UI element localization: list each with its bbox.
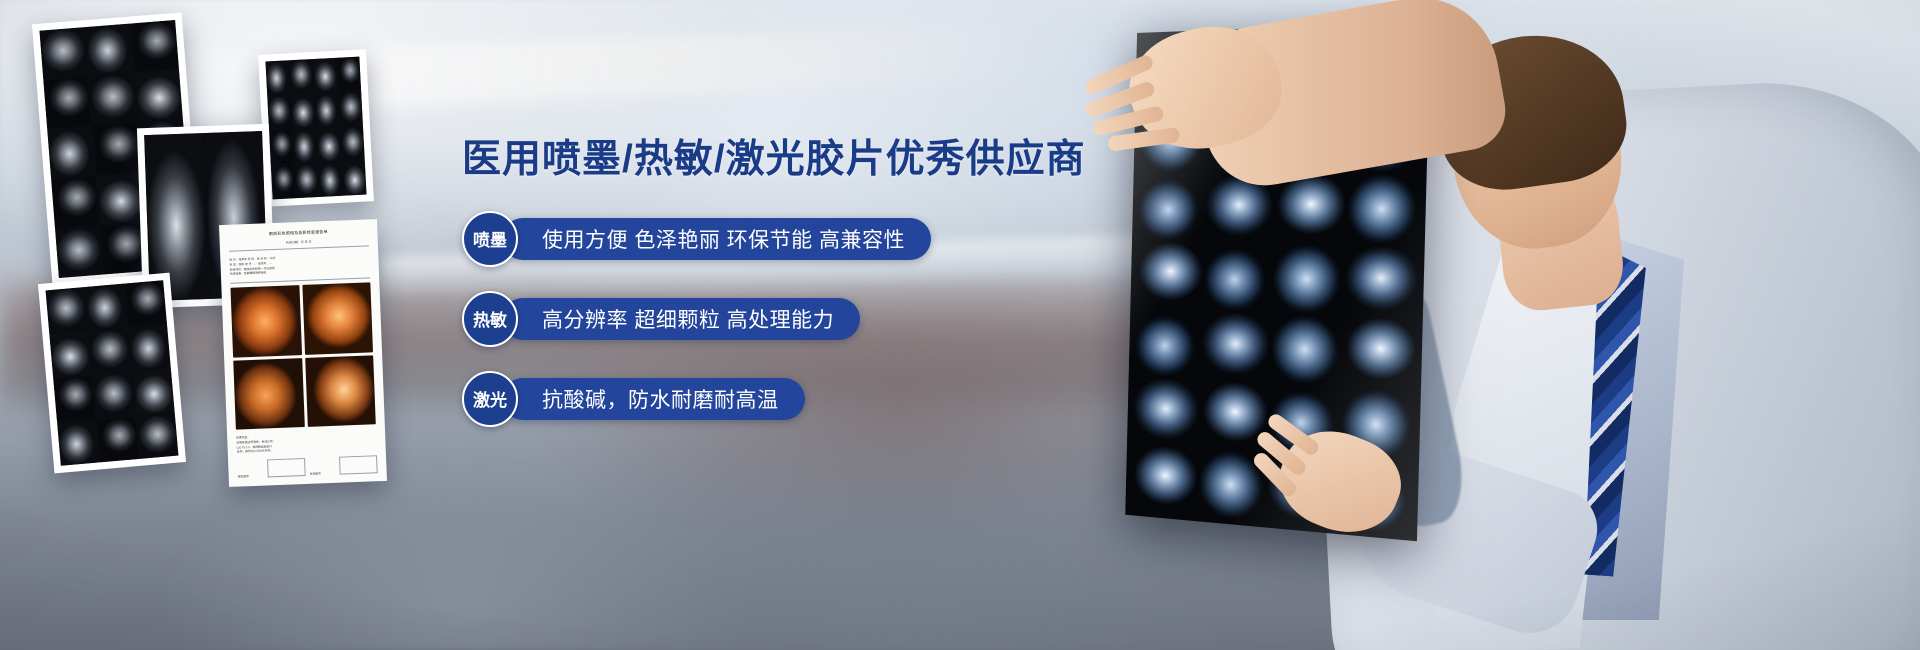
marketing-copy: 医用喷墨/热敏/激光胶片优秀供应商 喷墨 使用方便 色泽艳丽 环保节能 高兼容性… <box>462 140 1162 427</box>
feature-chip-thermal: 热敏 <box>462 291 518 347</box>
feature-row-laser[interactable]: 激光 抗酸碱，防水耐磨耐高温 <box>462 371 1162 427</box>
feature-pill-inkjet: 使用方便 色泽艳丽 环保节能 高兼容性 <box>502 218 931 260</box>
feature-pill-laser: 抗酸碱，防水耐磨耐高温 <box>502 378 805 420</box>
banner-root: 眼底彩色照相及造影检查报告单 检查日期：年 月 日 姓 名：张某某 性 别：男 … <box>0 0 1920 650</box>
feature-row-inkjet[interactable]: 喷墨 使用方便 色泽艳丽 环保节能 高兼容性 <box>462 211 1162 267</box>
feature-row-thermal[interactable]: 热敏 高分辨率 超细颗粒 高处理能力 <box>462 291 1162 347</box>
feature-chip-inkjet: 喷墨 <box>462 211 518 267</box>
feature-chip-laser: 激光 <box>462 371 518 427</box>
feature-pill-thermal: 高分辨率 超细颗粒 高处理能力 <box>502 298 860 340</box>
feature-list: 喷墨 使用方便 色泽艳丽 环保节能 高兼容性 热敏 高分辨率 超细颗粒 高处理能… <box>462 211 1162 427</box>
page-title: 医用喷墨/热敏/激光胶片优秀供应商 <box>462 140 1162 181</box>
